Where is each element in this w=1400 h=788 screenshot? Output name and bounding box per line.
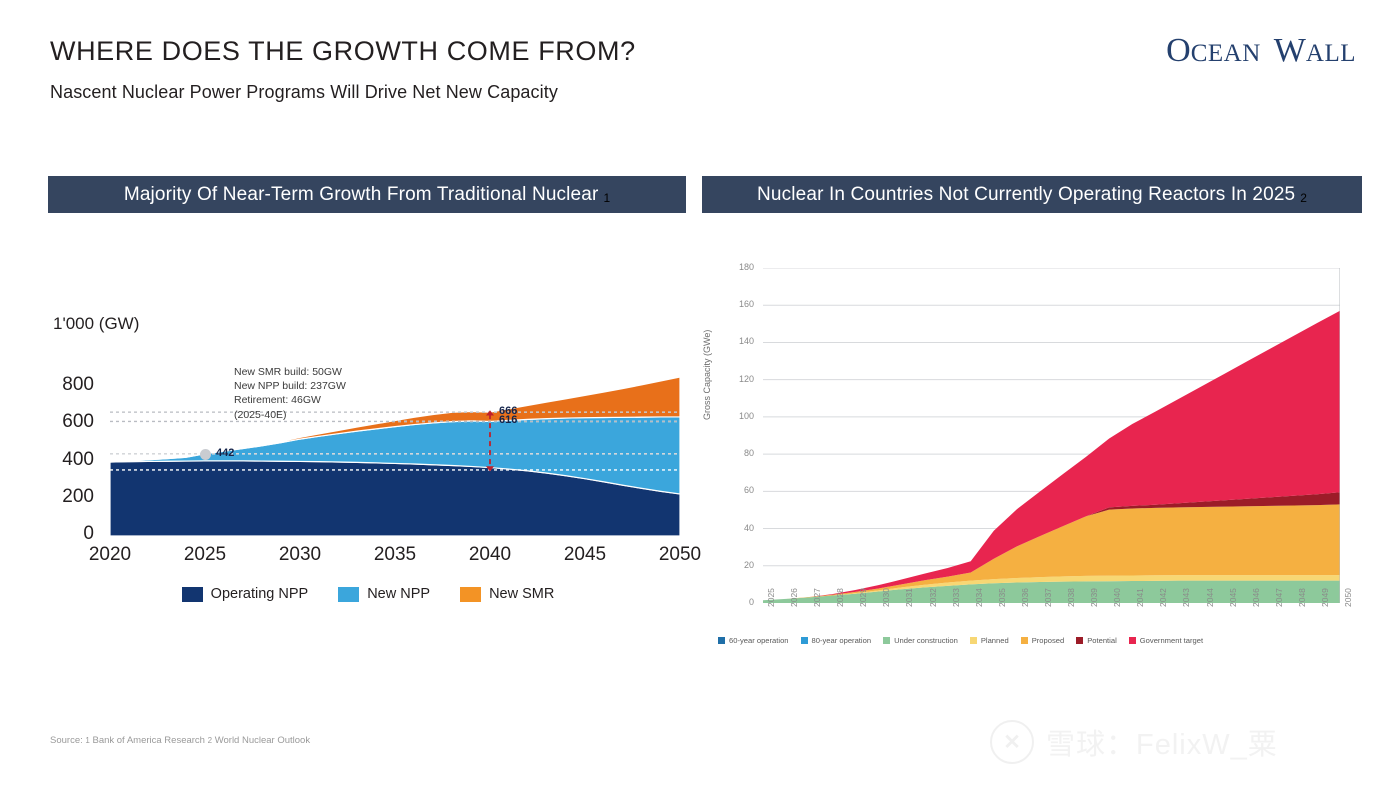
left-legend-label-2: New SMR bbox=[489, 586, 554, 602]
watermark-text: 雪球：FelixW_粟 bbox=[1046, 721, 1278, 763]
right-legend-item-3[interactable]: Planned bbox=[970, 636, 1009, 645]
left-legend-swatch-0 bbox=[182, 587, 203, 602]
right-legend-item-5[interactable]: Potential bbox=[1076, 636, 1117, 645]
left-chart-legend: Operating NPPNew NPPNew SMR bbox=[48, 586, 688, 602]
panel-header-right: Nuclear In Countries Not Currently Opera… bbox=[702, 176, 1362, 213]
right-x-tick-2048: 2048 bbox=[1297, 588, 1307, 607]
left-legend-item-1[interactable]: New NPP bbox=[338, 586, 430, 602]
source-text-1: Bank of America Research bbox=[92, 735, 204, 746]
left-chart-unit-label: 1'000 (GW) bbox=[53, 314, 139, 334]
right-x-tick-2040: 2040 bbox=[1112, 588, 1122, 607]
right-legend-label-3: Planned bbox=[981, 636, 1009, 645]
right-x-tick-2033: 2033 bbox=[951, 588, 961, 607]
right-chart: Gross Capacity (GWe) 0204060801001201401… bbox=[700, 250, 1365, 670]
logo-wall-rest: ALL bbox=[1306, 40, 1356, 67]
annotation-new-smr-build: New SMR build: 50GW bbox=[234, 365, 346, 379]
right-chart-areas bbox=[763, 268, 1340, 603]
source-prefix: Source: bbox=[50, 735, 83, 746]
left-y-tick-400: 400 bbox=[48, 449, 94, 471]
left-x-tick-2030: 2030 bbox=[265, 544, 335, 566]
right-chart-plot bbox=[763, 268, 1340, 603]
left-chart: 1'000 (GW) 0200400600800 202020252030203… bbox=[48, 300, 688, 620]
left-chart-plot bbox=[110, 350, 680, 536]
annotation-retirement: Retirement: 46GW bbox=[234, 393, 346, 407]
data-label-442: 442 bbox=[216, 447, 234, 459]
right-x-tick-2032: 2032 bbox=[928, 588, 938, 607]
slide-root: WHERE DOES THE GROWTH COME FROM? Nascent… bbox=[0, 0, 1400, 788]
right-x-tick-2042: 2042 bbox=[1158, 588, 1168, 607]
page-subtitle: Nascent Nuclear Power Programs Will Driv… bbox=[50, 82, 558, 103]
right-legend-swatch-6 bbox=[1129, 637, 1136, 644]
logo-word-wall: WALL bbox=[1274, 32, 1356, 70]
logo-ocean-rest: CEAN bbox=[1191, 40, 1261, 67]
right-legend-label-4: Proposed bbox=[1032, 636, 1065, 645]
right-x-tick-2041: 2041 bbox=[1135, 588, 1145, 607]
right-x-tick-2046: 2046 bbox=[1251, 588, 1261, 607]
right-y-tick-0: 0 bbox=[718, 597, 754, 607]
right-x-tick-2034: 2034 bbox=[974, 588, 984, 607]
right-x-tick-2038: 2038 bbox=[1066, 588, 1076, 607]
right-x-tick-2030: 2030 bbox=[881, 588, 891, 607]
right-legend-swatch-1 bbox=[801, 637, 808, 644]
right-legend-label-1: 80-year operation bbox=[812, 636, 872, 645]
left-x-tick-2025: 2025 bbox=[170, 544, 240, 566]
right-x-tick-2029: 2029 bbox=[858, 588, 868, 607]
ocean-wall-logo: OCEAN WALL bbox=[1166, 32, 1356, 70]
left-chart-annotations: New SMR build: 50GW New NPP build: 237GW… bbox=[234, 365, 346, 422]
left-y-tick-200: 200 bbox=[48, 486, 94, 508]
right-y-tick-40: 40 bbox=[718, 523, 754, 533]
left-y-tick-600: 600 bbox=[48, 411, 94, 433]
logo-ocean-cap: O bbox=[1166, 32, 1191, 69]
left-legend-label-0: Operating NPP bbox=[211, 586, 309, 602]
right-x-tick-2044: 2044 bbox=[1205, 588, 1215, 607]
right-x-tick-2047: 2047 bbox=[1274, 588, 1284, 607]
right-x-tick-2036: 2036 bbox=[1020, 588, 1030, 607]
right-legend-swatch-0 bbox=[718, 637, 725, 644]
annotation-period: (2025-40E) bbox=[234, 408, 346, 422]
right-x-tick-2039: 2039 bbox=[1089, 588, 1099, 607]
left-legend-swatch-2 bbox=[460, 587, 481, 602]
right-chart-legend: 60-year operation80-year operationUnder … bbox=[718, 636, 1348, 645]
right-legend-label-5: Potential bbox=[1087, 636, 1117, 645]
logo-wall-cap: W bbox=[1274, 32, 1306, 69]
source-note: Source: 1 Bank of America Research 2 Wor… bbox=[50, 735, 310, 746]
right-legend-item-0[interactable]: 60-year operation bbox=[718, 636, 789, 645]
xueqiu-circle-x-icon: ✕ bbox=[990, 720, 1034, 764]
right-legend-swatch-3 bbox=[970, 637, 977, 644]
right-legend-item-6[interactable]: Government target bbox=[1129, 636, 1203, 645]
right-y-tick-140: 140 bbox=[718, 336, 754, 346]
right-x-tick-2049: 2049 bbox=[1320, 588, 1330, 607]
right-legend-item-2[interactable]: Under construction bbox=[883, 636, 958, 645]
right-x-tick-2025: 2025 bbox=[766, 588, 776, 607]
panel-header-left: Majority Of Near-Term Growth From Tradit… bbox=[48, 176, 686, 213]
right-legend-swatch-5 bbox=[1076, 637, 1083, 644]
right-y-tick-120: 120 bbox=[718, 374, 754, 384]
source-mark-1: 1 bbox=[85, 736, 89, 745]
logo-word-ocean: OCEAN bbox=[1166, 32, 1261, 70]
left-legend-item-2[interactable]: New SMR bbox=[460, 586, 554, 602]
right-x-tick-2026: 2026 bbox=[789, 588, 799, 607]
right-legend-label-2: Under construction bbox=[894, 636, 958, 645]
left-legend-swatch-1 bbox=[338, 587, 359, 602]
right-x-tick-2043: 2043 bbox=[1181, 588, 1191, 607]
page-title: WHERE DOES THE GROWTH COME FROM? bbox=[50, 36, 636, 67]
right-y-tick-100: 100 bbox=[718, 411, 754, 421]
right-y-tick-80: 80 bbox=[718, 448, 754, 458]
left-chart-areas bbox=[110, 350, 680, 536]
source-text-2: World Nuclear Outlook bbox=[215, 735, 310, 746]
right-y-tick-160: 160 bbox=[718, 299, 754, 309]
right-x-tick-2035: 2035 bbox=[997, 588, 1007, 607]
right-y-tick-20: 20 bbox=[718, 560, 754, 570]
right-legend-item-1[interactable]: 80-year operation bbox=[801, 636, 872, 645]
annotation-new-npp-build: New NPP build: 237GW bbox=[234, 379, 346, 393]
right-legend-item-4[interactable]: Proposed bbox=[1021, 636, 1065, 645]
panel-header-left-label: Majority Of Near-Term Growth From Tradit… bbox=[124, 184, 599, 206]
left-legend-item-0[interactable]: Operating NPP bbox=[182, 586, 309, 602]
right-x-tick-2028: 2028 bbox=[835, 588, 845, 607]
left-legend-label-1: New NPP bbox=[367, 586, 430, 602]
right-x-tick-2050: 2050 bbox=[1343, 588, 1353, 607]
right-legend-label-0: 60-year operation bbox=[729, 636, 789, 645]
left-x-tick-2040: 2040 bbox=[455, 544, 525, 566]
left-y-tick-800: 800 bbox=[48, 374, 94, 396]
right-x-tick-2031: 2031 bbox=[904, 588, 914, 607]
right-x-tick-2037: 2037 bbox=[1043, 588, 1053, 607]
left-x-tick-2045: 2045 bbox=[550, 544, 620, 566]
right-legend-swatch-4 bbox=[1021, 637, 1028, 644]
right-x-tick-2045: 2045 bbox=[1228, 588, 1238, 607]
source-mark-2: 2 bbox=[208, 736, 212, 745]
left-x-tick-2020: 2020 bbox=[75, 544, 145, 566]
right-legend-swatch-2 bbox=[883, 637, 890, 644]
left-y-tick-0: 0 bbox=[48, 523, 94, 545]
panel-header-left-footnote: 1 bbox=[603, 191, 610, 205]
right-chart-y-axis-title: Gross Capacity (GWe) bbox=[702, 330, 712, 420]
left-x-tick-2035: 2035 bbox=[360, 544, 430, 566]
watermark: ✕ 雪球：FelixW_粟 bbox=[990, 720, 1278, 764]
panel-header-right-footnote: 2 bbox=[1300, 191, 1307, 205]
right-x-tick-2027: 2027 bbox=[812, 588, 822, 607]
data-label-616: 616 bbox=[499, 414, 517, 426]
data-point-marker-2025 bbox=[200, 449, 211, 460]
panel-header-right-label: Nuclear In Countries Not Currently Opera… bbox=[757, 184, 1295, 206]
right-legend-label-6: Government target bbox=[1140, 636, 1203, 645]
right-y-tick-60: 60 bbox=[718, 485, 754, 495]
right-y-tick-180: 180 bbox=[718, 262, 754, 272]
